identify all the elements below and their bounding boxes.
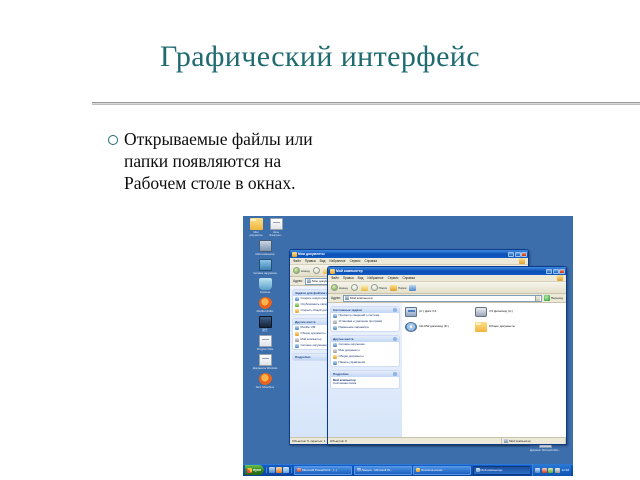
menu-item-tools[interactable]: Сервис	[350, 258, 361, 265]
desktop-icon-label: Мой компьютер	[245, 253, 285, 256]
menu-item-favorites[interactable]: Избранное	[367, 275, 383, 282]
task-button-label: Этикэтка копии	[421, 468, 442, 472]
desktop-icon[interactable]: Сетевое окружение	[245, 259, 285, 275]
title-divider	[92, 102, 640, 105]
drive-item[interactable]: (C:) Диск 3,5	[405, 307, 471, 317]
cd-drive-icon	[405, 322, 417, 332]
publish-icon	[295, 303, 299, 307]
back-button[interactable]: Назад	[293, 267, 310, 274]
folder-icon	[416, 468, 420, 472]
task-link-label: Просмотр сведений о системе	[339, 314, 380, 317]
address-label: Адрес:	[331, 296, 341, 300]
folder-icon	[475, 322, 487, 332]
drive-label: 3,5 Дисковод (A:)	[489, 310, 513, 313]
task-link[interactable]: Панель управления	[331, 360, 399, 366]
task-button-label: Microsoft PowerPoint - [...]	[302, 468, 337, 472]
title-bar[interactable]: Мой компьютер	[328, 267, 566, 275]
address-bar[interactable]: Адрес: Мой компьютер Переход	[328, 294, 566, 303]
task-link-label: Мой компьютер	[301, 338, 322, 341]
task-group-title: Другие места	[295, 320, 315, 324]
address-value: Мой компьютер	[350, 296, 373, 300]
firefox-icon	[259, 373, 272, 385]
task-link-label: Сетевое окружение	[301, 344, 327, 347]
recycle-bin-icon	[259, 278, 272, 290]
desktop-icon-label: Сетевое окружение	[245, 272, 285, 275]
my-computer-icon	[295, 338, 299, 342]
my-computer-icon	[504, 439, 508, 443]
menu-item-tools[interactable]: Сервис	[388, 275, 399, 282]
tool-bar[interactable]: Назад Поиск Папки	[328, 282, 566, 294]
maximize-button[interactable]	[515, 252, 521, 257]
media-icon	[259, 316, 272, 328]
menu-item-file[interactable]: Файл	[293, 258, 301, 265]
bullet-list: Открываемые файлы или папки появляются н…	[108, 128, 318, 194]
task-link-label: Общие документы	[301, 332, 326, 335]
share-icon	[295, 309, 299, 313]
desktop-icon-label: 総合	[245, 329, 285, 332]
task-group-title: Системные задачи	[333, 308, 362, 312]
menu-item-help[interactable]: Справка	[364, 258, 377, 265]
chevron-up-icon[interactable]	[393, 308, 397, 312]
my-documents-icon	[333, 349, 337, 353]
forward-button[interactable]	[313, 267, 320, 274]
start-label: пуск	[253, 468, 261, 472]
window-controls[interactable]	[546, 269, 565, 274]
task-link[interactable]: Изменение параметра	[331, 325, 399, 331]
task-pane[interactable]: Системные задачи Просмотр сведений о сис…	[328, 303, 402, 437]
folders-label: Папки	[398, 286, 406, 290]
shared-documents-icon	[295, 332, 299, 336]
details-subtitle: Системная папка	[333, 381, 356, 385]
forward-button[interactable]	[351, 284, 358, 291]
shared-documents-icon	[333, 355, 337, 359]
desktop-icon-label: Документы Windows	[245, 367, 285, 370]
place-icon	[295, 326, 299, 330]
settings-icon	[333, 326, 337, 330]
drive-item[interactable]: 3,5 Дисковод (A:)	[475, 307, 541, 317]
minimize-button[interactable]	[508, 252, 514, 257]
back-label: Назад	[301, 269, 310, 273]
menu-item-help[interactable]: Справка	[402, 275, 415, 282]
file-list-area[interactable]: (C:) Диск 3,5 3,5 Дисковод (A:) CD-RW ди…	[402, 303, 566, 437]
bullet-text: Открываемые файлы или папки появляются н…	[124, 128, 318, 194]
desktop-icon-label: Mozilla Firefox	[245, 310, 285, 313]
windows-flag-icon	[247, 468, 252, 473]
my-computer-icon	[345, 296, 349, 300]
details-body: Мой компьютер Системная папка	[331, 377, 399, 388]
task-link-label: Сетевое окружение	[339, 343, 365, 346]
menu-item-favorites[interactable]: Избранное	[329, 258, 345, 265]
desktop-icon[interactable]: 総合	[245, 316, 285, 332]
address-label: Адрес:	[293, 279, 303, 283]
update-icon[interactable]	[555, 468, 560, 473]
chevron-up-icon[interactable]	[393, 372, 397, 376]
drive-label: Общие документы	[489, 325, 515, 328]
desktop-icon-label: Акты Электрон...	[267, 231, 285, 237]
desktop-icon-label: Program Files	[245, 348, 285, 351]
desktop-icon-label: Nero ShowTime	[245, 386, 285, 389]
folder-icon	[307, 279, 311, 283]
new-folder-icon	[295, 297, 299, 301]
antivirus-icon[interactable]	[542, 468, 547, 473]
go-button[interactable]: Переход	[544, 295, 563, 301]
windows-logo-icon	[519, 258, 525, 264]
desktop-icon[interactable]: Акты Электрон...	[267, 218, 285, 237]
window-controls[interactable]	[508, 252, 527, 257]
task-link-label: Установка и удаление программ	[339, 320, 382, 323]
close-button[interactable]	[521, 252, 527, 257]
menu-bar[interactable]: Файл Правка Вид Избранное Сервис Справка	[328, 275, 566, 282]
chevron-up-icon[interactable]	[393, 337, 397, 341]
menu-item-edit[interactable]: Правка	[305, 258, 316, 265]
network-icon	[295, 344, 299, 348]
desktop-icon-label: Документ Microsoft Wor...	[530, 449, 560, 452]
task-group-title: Другие места	[333, 337, 353, 341]
task-group-other-places[interactable]: Другие места Сетевое окружение Мои докум…	[330, 335, 400, 367]
task-link-label: Панель управления	[339, 361, 366, 364]
document-icon	[259, 354, 272, 366]
desktop-icon-label: Мои документы	[247, 231, 265, 237]
title-bar[interactable]: Мои документы	[290, 250, 528, 258]
floppy-drive-icon	[475, 307, 487, 317]
task-group-title: Подробно	[295, 355, 311, 359]
browser-icon[interactable]	[276, 467, 282, 473]
page-title: Графический интерфейс	[0, 40, 640, 74]
chevron-down-icon[interactable]	[535, 295, 540, 301]
firefox-icon	[259, 297, 272, 309]
drive-label: (C:) Диск 3,5	[419, 310, 436, 313]
close-button[interactable]	[559, 269, 565, 274]
task-link-label: Создать новую папку	[301, 297, 329, 300]
search-label: Поиск	[379, 286, 387, 290]
network-places-icon	[259, 259, 272, 271]
task-link-label: Изменение параметра	[339, 326, 369, 329]
minimize-button[interactable]	[546, 269, 552, 274]
back-button[interactable]: Назад	[331, 284, 348, 291]
embedded-screenshot: Мои документы Акты Электрон... Мой компь…	[243, 216, 573, 476]
task-button-my-computer[interactable]: Мой компьютер	[473, 466, 531, 475]
show-desktop-icon[interactable]	[269, 467, 275, 473]
desktop-icon[interactable]: Мои документы	[247, 218, 265, 237]
computer-icon	[476, 468, 480, 472]
drive-list: (C:) Диск 3,5 3,5 Дисковод (A:) CD-RW ди…	[405, 307, 563, 335]
window-icon	[292, 252, 297, 257]
drive-item[interactable]: CD-RW дисковод (D:)	[405, 322, 471, 332]
task-button-label: Лекции - Microsoft W...	[362, 468, 393, 472]
volume-icon[interactable]	[548, 468, 553, 473]
up-button[interactable]	[361, 285, 368, 291]
clock[interactable]: 12:48	[561, 468, 569, 472]
explorer-window-my-computer[interactable]: Мой компьютер Файл Правка Вид Избранное …	[327, 266, 567, 445]
task-link-label: Мои документы	[339, 349, 360, 352]
document-icon	[259, 335, 272, 347]
menu-item-edit[interactable]: Правка	[343, 275, 354, 282]
control-panel-icon	[333, 361, 337, 365]
task-group-details[interactable]: Подробно Мой компьютер Системная папка	[330, 370, 400, 389]
views-button[interactable]	[409, 285, 416, 291]
folders-button[interactable]: Папки	[390, 285, 406, 291]
desktop-icon-label: Корзина	[245, 291, 285, 294]
menu-bar[interactable]: Файл Правка Вид Избранное Сервис Справка	[290, 258, 528, 265]
task-link-label: Mozilla 'VM'	[301, 326, 316, 329]
status-location: Мой компьютер	[502, 438, 566, 444]
powerpoint-icon	[297, 468, 301, 472]
menu-item-view[interactable]: Вид	[358, 275, 364, 282]
drive-label: CD-RW дисковод (D:)	[419, 325, 449, 328]
window-body: Системные задачи Просмотр сведений о сис…	[328, 303, 566, 437]
task-button-powerpoint[interactable]: Microsoft PowerPoint - [...]	[294, 466, 352, 475]
quick-launch-bar[interactable]	[266, 467, 292, 473]
task-group-system-tasks[interactable]: Системные задачи Просмотр сведений о сис…	[330, 306, 400, 332]
desktop-icon[interactable]: Корзина	[245, 278, 285, 294]
taskbar[interactable]: пуск Microsoft PowerPoint - [...] Лекции…	[243, 464, 573, 476]
status-object-count: Объектов: 6	[328, 438, 502, 444]
go-label: Переход	[551, 296, 563, 300]
task-button-word[interactable]: Лекции - Microsoft W...	[354, 466, 412, 475]
go-arrow-icon	[544, 295, 550, 301]
document-icon	[270, 218, 283, 230]
window-icon	[330, 269, 335, 274]
task-link-label: Общие документы	[339, 355, 364, 358]
mail-icon[interactable]	[283, 467, 289, 473]
windows-logo-icon	[557, 275, 563, 281]
system-tray[interactable]: 12:48	[532, 464, 571, 476]
drive-item[interactable]: Общие документы	[475, 322, 541, 332]
add-remove-programs-icon	[333, 320, 337, 324]
desktop-icon[interactable]: Program Files	[245, 335, 285, 351]
desktop-icon[interactable]: Документы Windows	[245, 354, 285, 370]
search-button[interactable]: Поиск	[371, 284, 387, 291]
task-button-label: Мой компьютер	[481, 468, 503, 472]
system-info-icon	[333, 314, 337, 318]
list-item: Открываемые файлы или папки появляются н…	[108, 128, 318, 194]
folder-documents-icon	[250, 218, 263, 230]
address-input[interactable]: Мой компьютер	[343, 295, 542, 302]
word-icon	[357, 468, 361, 472]
hard-disk-icon	[405, 307, 417, 317]
network-icon[interactable]	[535, 468, 540, 473]
task-group-title: Подробно	[333, 372, 349, 376]
desktop-icon[interactable]: Мой компьютер	[245, 240, 285, 256]
bullet-circle-icon	[108, 135, 124, 145]
my-computer-icon	[259, 240, 272, 252]
desktop-icon[interactable]: Mozilla Firefox	[245, 297, 285, 313]
menu-item-view[interactable]: Вид	[320, 258, 326, 265]
maximize-button[interactable]	[553, 269, 559, 274]
desktop-icon[interactable]: Nero ShowTime	[245, 373, 285, 389]
desktop-icon-column: Мои документы Акты Электрон... Мой компь…	[245, 218, 285, 392]
network-places-icon	[333, 343, 337, 347]
menu-item-file[interactable]: Файл	[331, 275, 339, 282]
back-label: Назад	[339, 286, 348, 290]
start-button[interactable]: пуск	[245, 465, 264, 475]
task-button-list[interactable]: Microsoft PowerPoint - [...] Лекции - Mi…	[294, 466, 530, 475]
status-bar: Объектов: 6 Мой компьютер	[328, 437, 566, 444]
task-button-folder[interactable]: Этикэтка копии	[413, 466, 471, 475]
